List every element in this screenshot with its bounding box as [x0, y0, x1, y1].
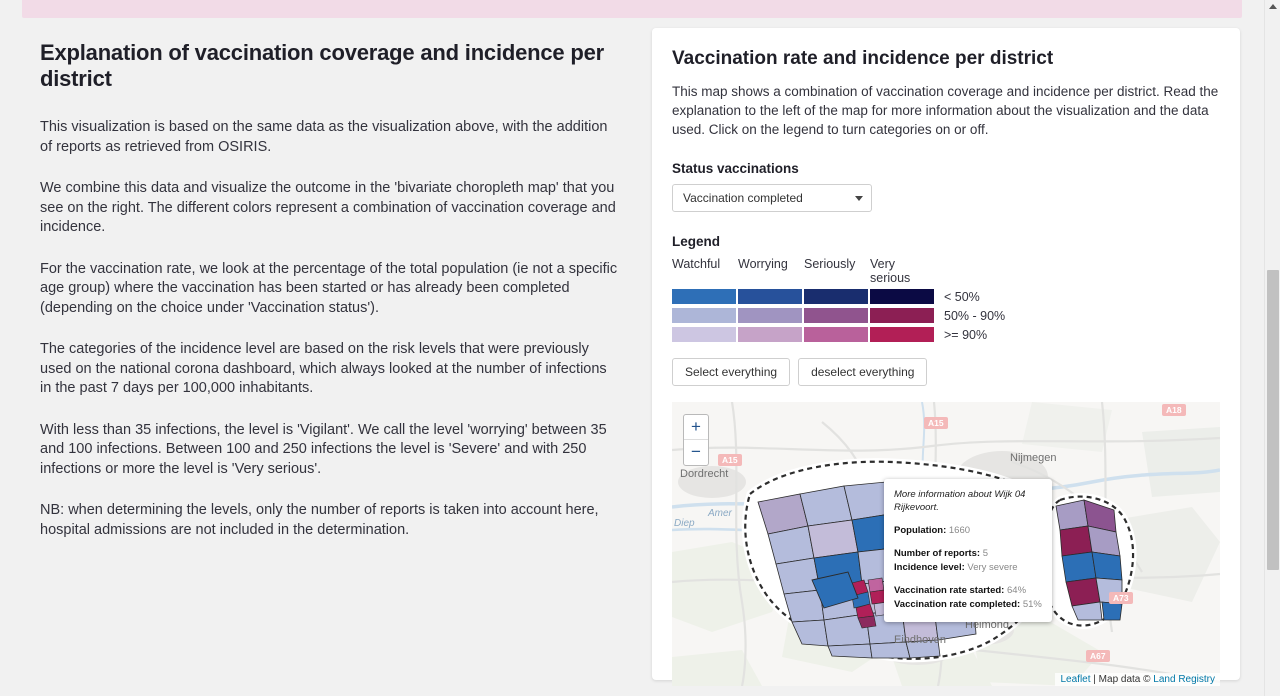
explanation-paragraph-5: With less than 35 infections, the level … [40, 421, 620, 480]
legend-action-buttons: Select everything deselect everything [672, 358, 1220, 386]
attribution-mapdata-text: Map data © [1099, 674, 1154, 685]
popup-reports-label: Number of reports: [894, 548, 980, 559]
zoom-in-button[interactable]: + [684, 415, 708, 440]
select-everything-button[interactable]: Select everything [672, 358, 790, 386]
legend-swatch[interactable] [804, 327, 868, 342]
legend-swatch[interactable] [672, 308, 736, 323]
popup-spacer [894, 575, 1042, 584]
legend-row: 50% - 90% [672, 308, 1220, 323]
deselect-everything-button[interactable]: deselect everything [798, 358, 927, 386]
page-title: Explanation of vaccination coverage and … [40, 40, 620, 92]
road-badge-a15-north: A15 [924, 417, 948, 429]
popup-incidence-row: Incidence level: Very severe [894, 561, 1042, 574]
map-water-label-amer: Amer [708, 508, 732, 519]
status-vaccinations-select[interactable]: Vaccination completed [672, 184, 872, 212]
popup-reports-value: 5 [983, 548, 988, 559]
explanation-paragraph-1: This visualization is based on the same … [40, 118, 620, 157]
top-pink-banner [22, 0, 1242, 18]
legend-row-label: 50% - 90% [944, 309, 1005, 323]
legend-column-seriously: Seriously [804, 257, 870, 285]
explanation-paragraph-6: NB: when determining the levels, only th… [40, 501, 620, 540]
card-title: Vaccination rate and incidence per distr… [672, 48, 1220, 70]
popup-started-value: 64% [1007, 585, 1026, 596]
popup-title: More information about Wijk 04 Rijkevoor… [894, 488, 1042, 514]
explanation-panel: Explanation of vaccination coverage and … [20, 22, 640, 674]
map-card: Vaccination rate and incidence per distr… [652, 28, 1240, 680]
scrollbar-thumb[interactable] [1267, 270, 1279, 570]
popup-population-row: Population: 1660 [894, 524, 1042, 537]
legend-row: >= 90% [672, 327, 1220, 342]
land-registry-link[interactable]: Land Registry [1153, 674, 1215, 685]
leaflet-link[interactable]: Leaflet [1060, 674, 1090, 685]
legend-grid: < 50% 50% - 90% >= 90% [672, 289, 1220, 342]
popup-spacer [894, 538, 1042, 547]
legend-swatch[interactable] [672, 289, 736, 304]
legend-column-watchful: Watchful [672, 257, 738, 285]
chevron-down-icon [855, 196, 863, 201]
legend-swatch[interactable] [672, 327, 736, 342]
attribution-separator: | [1091, 674, 1099, 685]
page-scrollbar[interactable] [1264, 0, 1280, 696]
choropleth-map[interactable]: + − Dordrecht Nijmegen Helmond Eindhoven… [672, 402, 1220, 686]
map-attribution: Leaflet | Map data © Land Registry [1055, 673, 1220, 686]
map-label-nijmegen: Nijmegen [1010, 452, 1056, 464]
map-water-label-diep: Diep [674, 518, 695, 529]
legend-column-headers: Watchful Worrying Seriously Very serious [672, 257, 1220, 285]
popup-population-label: Population: [894, 525, 946, 536]
explanation-paragraph-2: We combine this data and visualize the o… [40, 179, 620, 238]
legend-row-label: < 50% [944, 290, 980, 304]
popup-completed-label: Vaccination rate completed: [894, 599, 1020, 610]
scroll-up-arrow-icon[interactable] [1269, 4, 1277, 9]
map-label-eindhoven: Eindhoven [894, 634, 946, 646]
status-vaccinations-label: Status vaccinations [672, 161, 1220, 176]
popup-started-label: Vaccination rate started: [894, 585, 1004, 596]
legend-swatch[interactable] [738, 327, 802, 342]
popup-completed-row: Vaccination rate completed: 51% [894, 598, 1042, 611]
legend-swatch[interactable] [738, 289, 802, 304]
legend-swatch[interactable] [870, 308, 934, 323]
legend-swatch[interactable] [870, 327, 934, 342]
district-info-popup: More information about Wijk 04 Rijkevoor… [884, 479, 1052, 622]
road-badge-a18: A18 [1162, 404, 1186, 416]
popup-population-value: 1660 [949, 525, 970, 536]
legend-swatch[interactable] [804, 308, 868, 323]
status-vaccinations-value: Vaccination completed [683, 191, 803, 205]
card-intro-text: This map shows a combination of vaccinat… [672, 82, 1220, 139]
popup-completed-value: 51% [1023, 599, 1042, 610]
legend-row-label: >= 90% [944, 328, 987, 342]
road-badge-a73: A73 [1109, 592, 1133, 604]
legend-column-very-serious: Very serious [870, 257, 936, 285]
legend-row: < 50% [672, 289, 1220, 304]
legend-title: Legend [672, 234, 1220, 249]
legend-swatch[interactable] [870, 289, 934, 304]
road-badge-a67: A67 [1086, 650, 1110, 662]
legend-swatch[interactable] [738, 308, 802, 323]
explanation-paragraph-3: For the vaccination rate, we look at the… [40, 260, 620, 319]
popup-reports-row: Number of reports: 5 [894, 547, 1042, 560]
explanation-paragraph-4: The categories of the incidence level ar… [40, 340, 620, 399]
page-root: Explanation of vaccination coverage and … [0, 0, 1280, 696]
zoom-out-button[interactable]: − [684, 440, 708, 465]
road-badge-a15-west: A15 [718, 454, 742, 466]
popup-incidence-label: Incidence level: [894, 562, 965, 573]
legend-swatch[interactable] [804, 289, 868, 304]
popup-incidence-value: Very severe [967, 562, 1017, 573]
legend-column-worrying: Worrying [738, 257, 804, 285]
district-cluster-right [1044, 497, 1133, 626]
map-label-dordrecht: Dordrecht [680, 468, 728, 480]
popup-started-row: Vaccination rate started: 64% [894, 584, 1042, 597]
map-zoom-controls[interactable]: + − [683, 414, 709, 466]
